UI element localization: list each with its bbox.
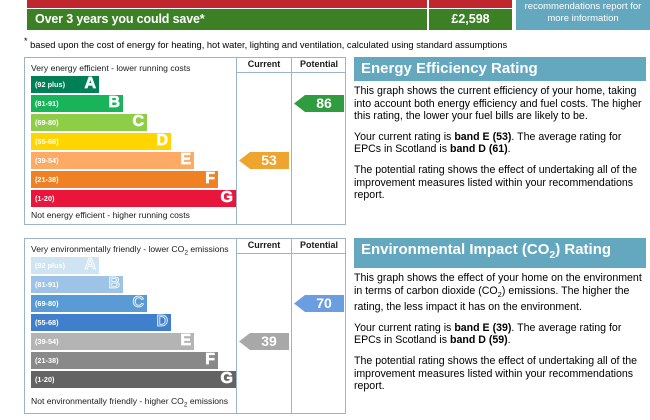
band-letter-e: E bbox=[180, 331, 191, 351]
band-letter-b: B bbox=[108, 93, 120, 113]
energy-panel-heading: Energy Efficiency Rating bbox=[354, 57, 646, 81]
band-range-d: (55-68) bbox=[35, 314, 59, 331]
column-header-current: Current bbox=[238, 59, 290, 69]
band-range-e: (39-54) bbox=[35, 152, 59, 169]
band-bar-a: (92 plus)A bbox=[31, 76, 99, 93]
energy-efficiency-chart: Very energy efficient - lower running co… bbox=[24, 57, 346, 225]
band-range-g: (1-20) bbox=[35, 190, 54, 207]
energy-column-headers: Current Potential bbox=[236, 58, 346, 73]
potential-rating-marker: 70 bbox=[294, 295, 344, 312]
savings-label-text: Over 3 years you could save bbox=[35, 12, 200, 26]
band-range-b: (81-91) bbox=[35, 95, 59, 112]
band-letter-d: D bbox=[156, 312, 168, 332]
summary-divider bbox=[427, 0, 429, 8]
energy-panel-paragraph-3: The potential rating shows the effect of… bbox=[354, 164, 646, 202]
energy-chart-caption-top: Very energy efficient - lower running co… bbox=[31, 63, 190, 73]
current-rating-marker: 39 bbox=[239, 333, 289, 350]
column-header-current: Current bbox=[238, 240, 290, 250]
summary-row-savings: Over 3 years you could save* £2,598 bbox=[27, 9, 512, 30]
band-range-f: (21-38) bbox=[35, 352, 59, 369]
band-letter-g: G bbox=[221, 188, 233, 208]
energy-panel-paragraph-2: Your current rating is band E (53). The … bbox=[354, 131, 646, 156]
column-rule-left bbox=[236, 239, 237, 413]
band-bar-c: (69-80)C bbox=[31, 114, 147, 131]
band-letter-e: E bbox=[180, 150, 191, 170]
band-letter-b: B bbox=[108, 274, 120, 294]
energy-panel-body: This graph shows the current efficiency … bbox=[354, 81, 646, 202]
savings-label-marker: * bbox=[200, 12, 205, 26]
band-bar-f: (21-38)F bbox=[31, 352, 218, 369]
band-letter-c: C bbox=[132, 293, 144, 313]
p2-bold-current: band E (53) bbox=[454, 131, 511, 143]
environmental-impact-chart: Very environmentally friendly - lower CO… bbox=[24, 238, 346, 414]
p2-bold-average: band D (61) bbox=[450, 143, 508, 155]
band-letter-a: A bbox=[84, 255, 96, 275]
band-letter-f: F bbox=[205, 169, 215, 189]
column-header-potential: Potential bbox=[292, 240, 346, 250]
savings-value: £2,598 bbox=[429, 9, 512, 30]
co2-heading-tail: ) Rating bbox=[555, 241, 611, 258]
current-rating-marker: 53 bbox=[239, 152, 289, 169]
co2-heading-main: Environmental Impact (CO bbox=[361, 241, 549, 258]
band-bar-c: (69-80)C bbox=[31, 295, 147, 312]
band-range-e: (39-54) bbox=[35, 333, 59, 350]
energy-chart-caption-bottom: Not energy efficient - higher running co… bbox=[31, 210, 190, 220]
co2-chart-caption-bottom: Not environmentally friendly - higher CO… bbox=[31, 396, 228, 409]
environmental-impact-panel: Environmental Impact (CO2) Rating This g… bbox=[354, 238, 646, 401]
band-bar-a: (92 plus)A bbox=[31, 257, 99, 274]
band-bar-d: (55-68)D bbox=[31, 314, 171, 331]
p2-bold-current: band E (39) bbox=[454, 322, 511, 334]
p2-post: . bbox=[508, 143, 511, 155]
recommendations-info-box: recommendations report for more informat… bbox=[516, 0, 650, 30]
band-letter-d: D bbox=[156, 131, 168, 151]
band-letter-c: C bbox=[132, 112, 144, 132]
footnote-text: based upon the cost of energy for heatin… bbox=[30, 40, 507, 50]
band-range-a: (92 plus) bbox=[35, 76, 65, 93]
band-bar-f: (21-38)F bbox=[31, 171, 218, 188]
savings-label: Over 3 years you could save* bbox=[27, 9, 427, 30]
band-bar-g: (1-20)G bbox=[31, 371, 236, 388]
column-rule-right bbox=[291, 239, 292, 413]
band-bar-e: (39-54)E bbox=[31, 152, 194, 169]
band-range-d: (55-68) bbox=[35, 133, 59, 150]
band-bar-b: (81-91)B bbox=[31, 95, 123, 112]
band-range-c: (69-80) bbox=[35, 295, 59, 312]
band-bar-e: (39-54)E bbox=[31, 333, 194, 350]
column-rule-right bbox=[291, 58, 292, 224]
co2-panel-paragraph-3: The potential rating shows the effect of… bbox=[354, 355, 646, 393]
column-header-potential: Potential bbox=[292, 59, 346, 69]
band-range-a: (92 plus) bbox=[35, 257, 65, 274]
band-range-g: (1-20) bbox=[35, 371, 54, 388]
band-range-f: (21-38) bbox=[35, 171, 59, 188]
band-letter-f: F bbox=[205, 350, 215, 370]
co2-column-headers: Current Potential bbox=[236, 239, 346, 254]
footnote-marker: * bbox=[24, 36, 28, 46]
footnote: * based upon the cost of energy for heat… bbox=[24, 36, 624, 50]
summary-row-red bbox=[27, 0, 512, 8]
p2-bold-average: band D (59) bbox=[450, 334, 508, 346]
band-range-c: (69-80) bbox=[35, 114, 59, 131]
p2-post: . bbox=[508, 334, 511, 346]
band-letter-g: G bbox=[221, 369, 233, 389]
co2-chart-caption-top: Very environmentally friendly - lower CO… bbox=[31, 244, 229, 257]
co2-panel-heading: Environmental Impact (CO2) Rating bbox=[354, 238, 646, 268]
band-bar-b: (81-91)B bbox=[31, 276, 123, 293]
savings-summary-table: Over 3 years you could save* £2,598 bbox=[27, 0, 512, 30]
energy-panel-paragraph-1: This graph shows the current efficiency … bbox=[354, 85, 646, 123]
co2-panel-body: This graph shows the effect of your home… bbox=[354, 268, 646, 393]
energy-efficiency-panel: Energy Efficiency Rating This graph show… bbox=[354, 57, 646, 210]
potential-rating-marker: 86 bbox=[294, 95, 344, 112]
band-letter-a: A bbox=[84, 74, 96, 94]
band-bar-d: (55-68)D bbox=[31, 133, 171, 150]
band-range-b: (81-91) bbox=[35, 276, 59, 293]
band-bar-g: (1-20)G bbox=[31, 190, 236, 207]
p2-pre: Your current rating is bbox=[354, 322, 454, 334]
column-rule-left bbox=[236, 58, 237, 224]
p2-pre: Your current rating is bbox=[354, 131, 454, 143]
co2-panel-paragraph-1: This graph shows the effect of your home… bbox=[354, 272, 646, 314]
co2-panel-paragraph-2: Your current rating is band E (39). The … bbox=[354, 322, 646, 347]
